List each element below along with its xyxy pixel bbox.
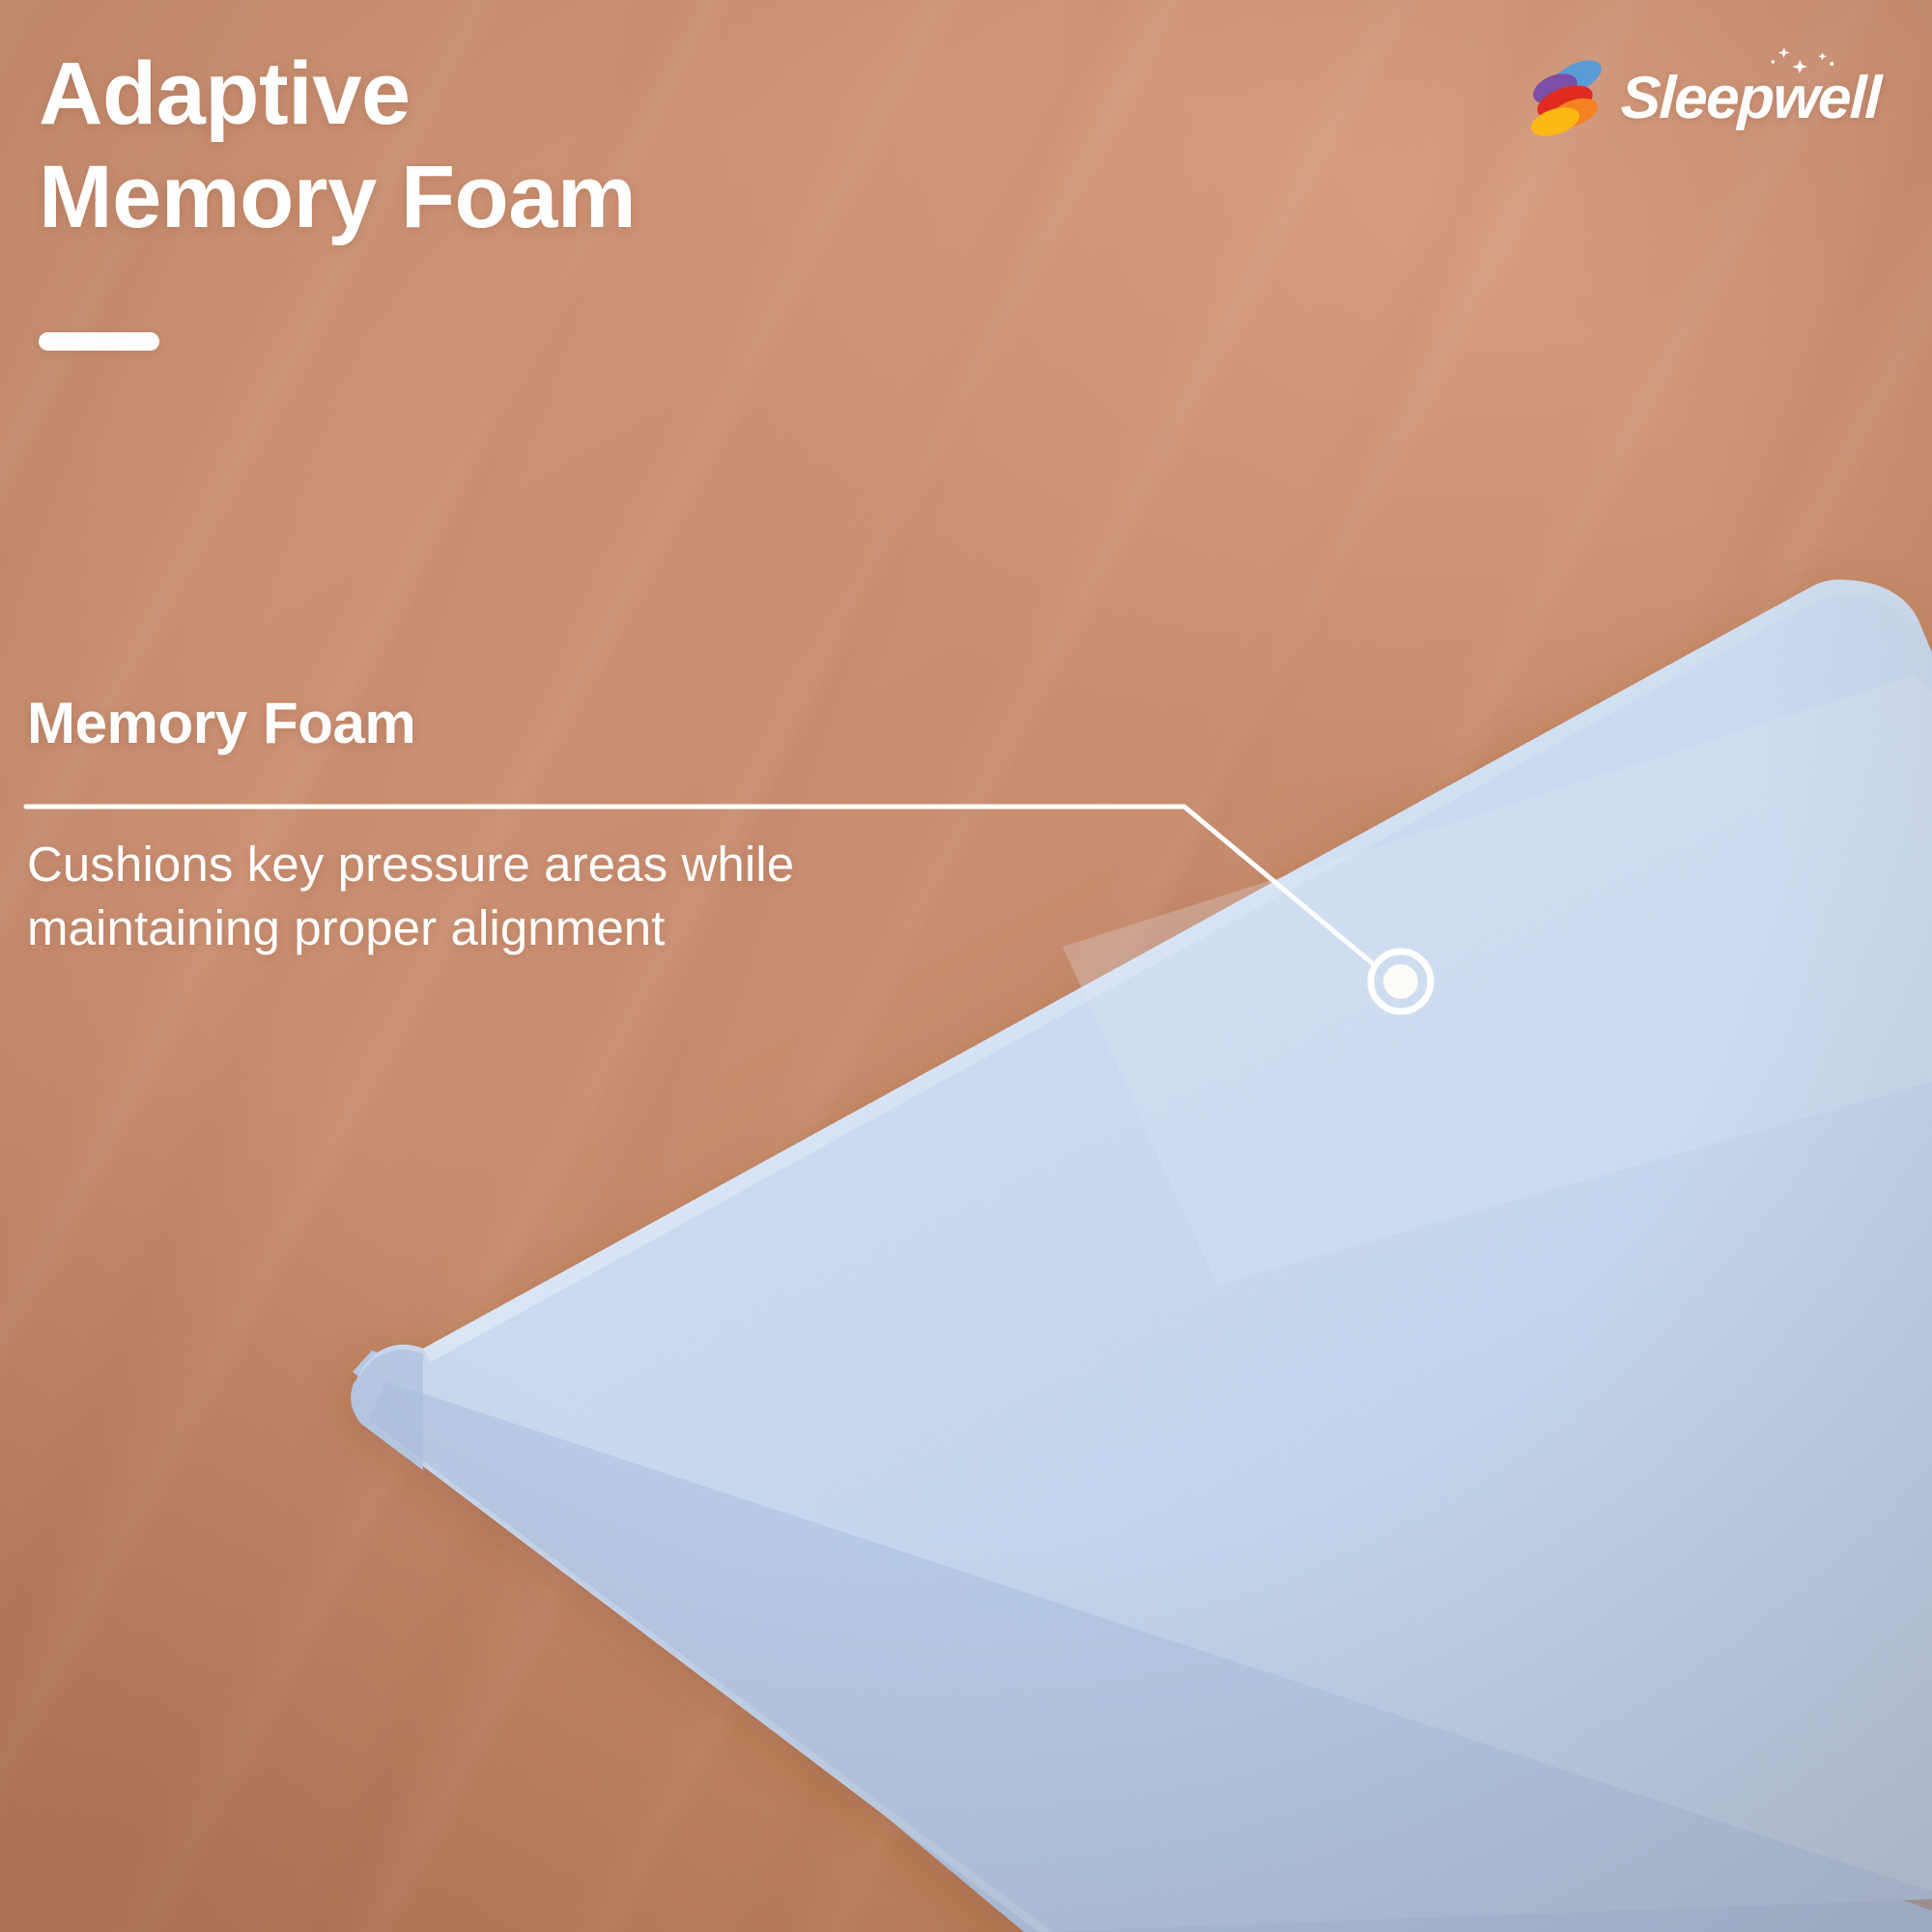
sleepwell-swoosh-logo-icon bbox=[1526, 54, 1607, 143]
title-accent-bar bbox=[39, 332, 159, 351]
callout-body-text: Cushions key pressure areas while mainta… bbox=[27, 833, 1051, 961]
brand-wordmark: Sleepwell bbox=[1620, 69, 1881, 128]
brand-logo[interactable]: Sleepwell bbox=[1526, 52, 1880, 145]
background-gradient bbox=[0, 0, 1932, 1932]
page-title: Adaptive Memory Foam bbox=[39, 43, 1101, 248]
sparkle-stars-icon bbox=[1767, 47, 1841, 76]
product-feature-graphic: Adaptive Memory Foam Sleepwell Memory Fo… bbox=[0, 0, 1932, 1932]
callout-heading: Memory Foam bbox=[27, 692, 415, 755]
